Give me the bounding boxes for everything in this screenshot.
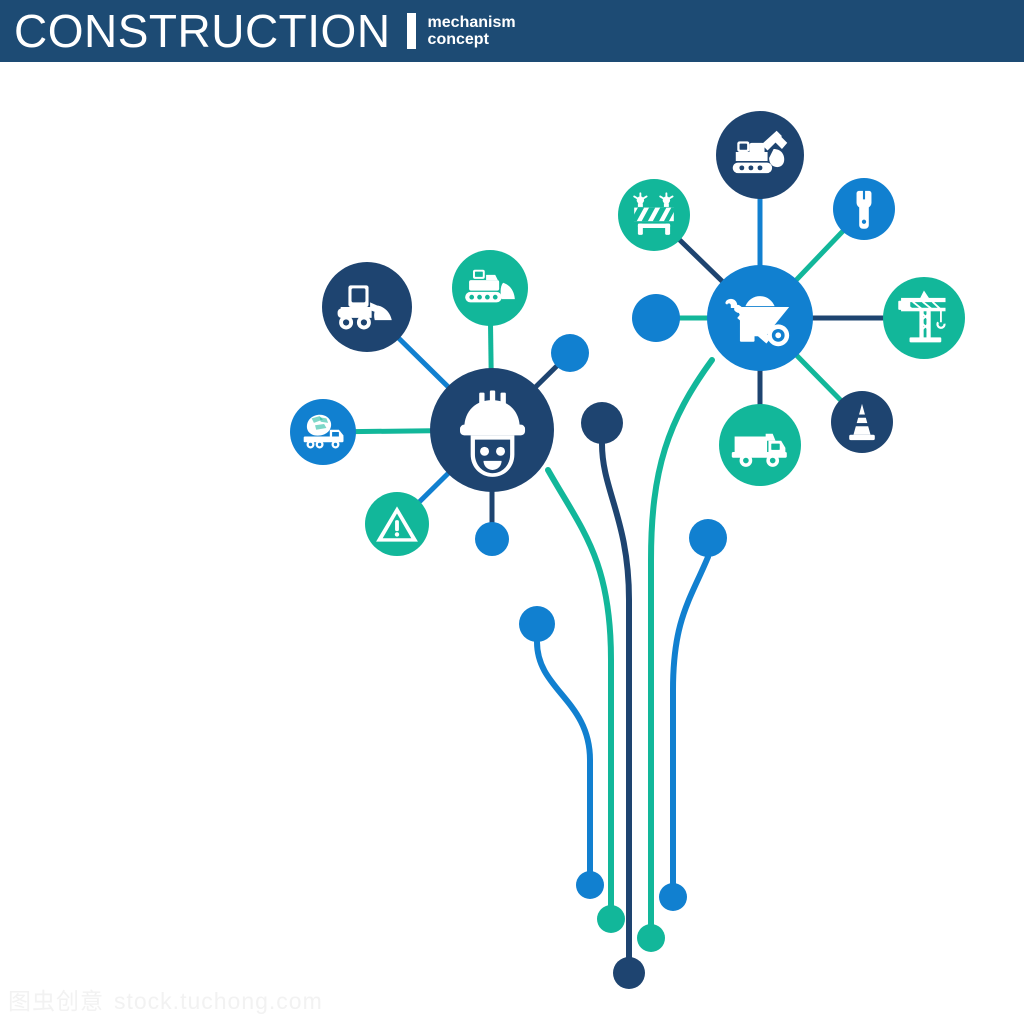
- node-worker[interactable]: [430, 368, 554, 492]
- node-circle[interactable]: [659, 883, 687, 911]
- node-circle[interactable]: [597, 905, 625, 933]
- stem-line: [651, 360, 712, 938]
- node-dot-s[interactable]: [475, 522, 509, 556]
- node-circle[interactable]: [613, 957, 645, 989]
- node-end-teal-r[interactable]: [637, 924, 665, 952]
- watermark: 图虫创意stock.tuchong.com: [8, 982, 323, 1016]
- node-wheelbarrow[interactable]: [707, 265, 813, 371]
- node-dot-stem-blue-l[interactable]: [519, 606, 555, 642]
- node-dot-stem-blue-r[interactable]: [689, 519, 727, 557]
- network-graph: [0, 0, 1024, 1024]
- node-dumptruck[interactable]: [719, 404, 801, 486]
- stem-line: [602, 444, 629, 973]
- node-circle[interactable]: [632, 294, 680, 342]
- node-wrench[interactable]: [833, 178, 895, 240]
- stem-line: [673, 557, 708, 897]
- infographic-canvas: CONSTRUCTION mechanism concept: [0, 0, 1024, 1024]
- watermark-cn-text: 图虫创意: [8, 988, 104, 1014]
- node-dot-w[interactable]: [632, 294, 680, 342]
- node-barrier[interactable]: [618, 179, 690, 251]
- node-warning[interactable]: [365, 492, 429, 556]
- stem-line: [548, 470, 611, 919]
- node-dot-stem-navy[interactable]: [581, 402, 623, 444]
- node-loader[interactable]: [322, 262, 412, 352]
- node-circle[interactable]: [689, 519, 727, 557]
- node-circle[interactable]: [581, 402, 623, 444]
- node-circle[interactable]: [576, 871, 604, 899]
- node-end-blue-l[interactable]: [576, 871, 604, 899]
- node-bulldozer[interactable]: [452, 250, 528, 326]
- node-end-blue-r[interactable]: [659, 883, 687, 911]
- node-circle[interactable]: [475, 522, 509, 556]
- node-circle[interactable]: [637, 924, 665, 952]
- node-circle[interactable]: [519, 606, 555, 642]
- node-circle[interactable]: [551, 334, 589, 372]
- stem-line: [537, 642, 590, 885]
- node-end-teal-l[interactable]: [597, 905, 625, 933]
- node-end-navy[interactable]: [613, 957, 645, 989]
- node-mixer[interactable]: [290, 399, 356, 465]
- node-excavator[interactable]: [716, 111, 804, 199]
- stem-lines-layer: [537, 360, 712, 973]
- node-crane[interactable]: [883, 277, 965, 359]
- watermark-url-text: stock.tuchong.com: [114, 988, 323, 1014]
- node-dot-ne[interactable]: [551, 334, 589, 372]
- node-cone[interactable]: [831, 391, 893, 453]
